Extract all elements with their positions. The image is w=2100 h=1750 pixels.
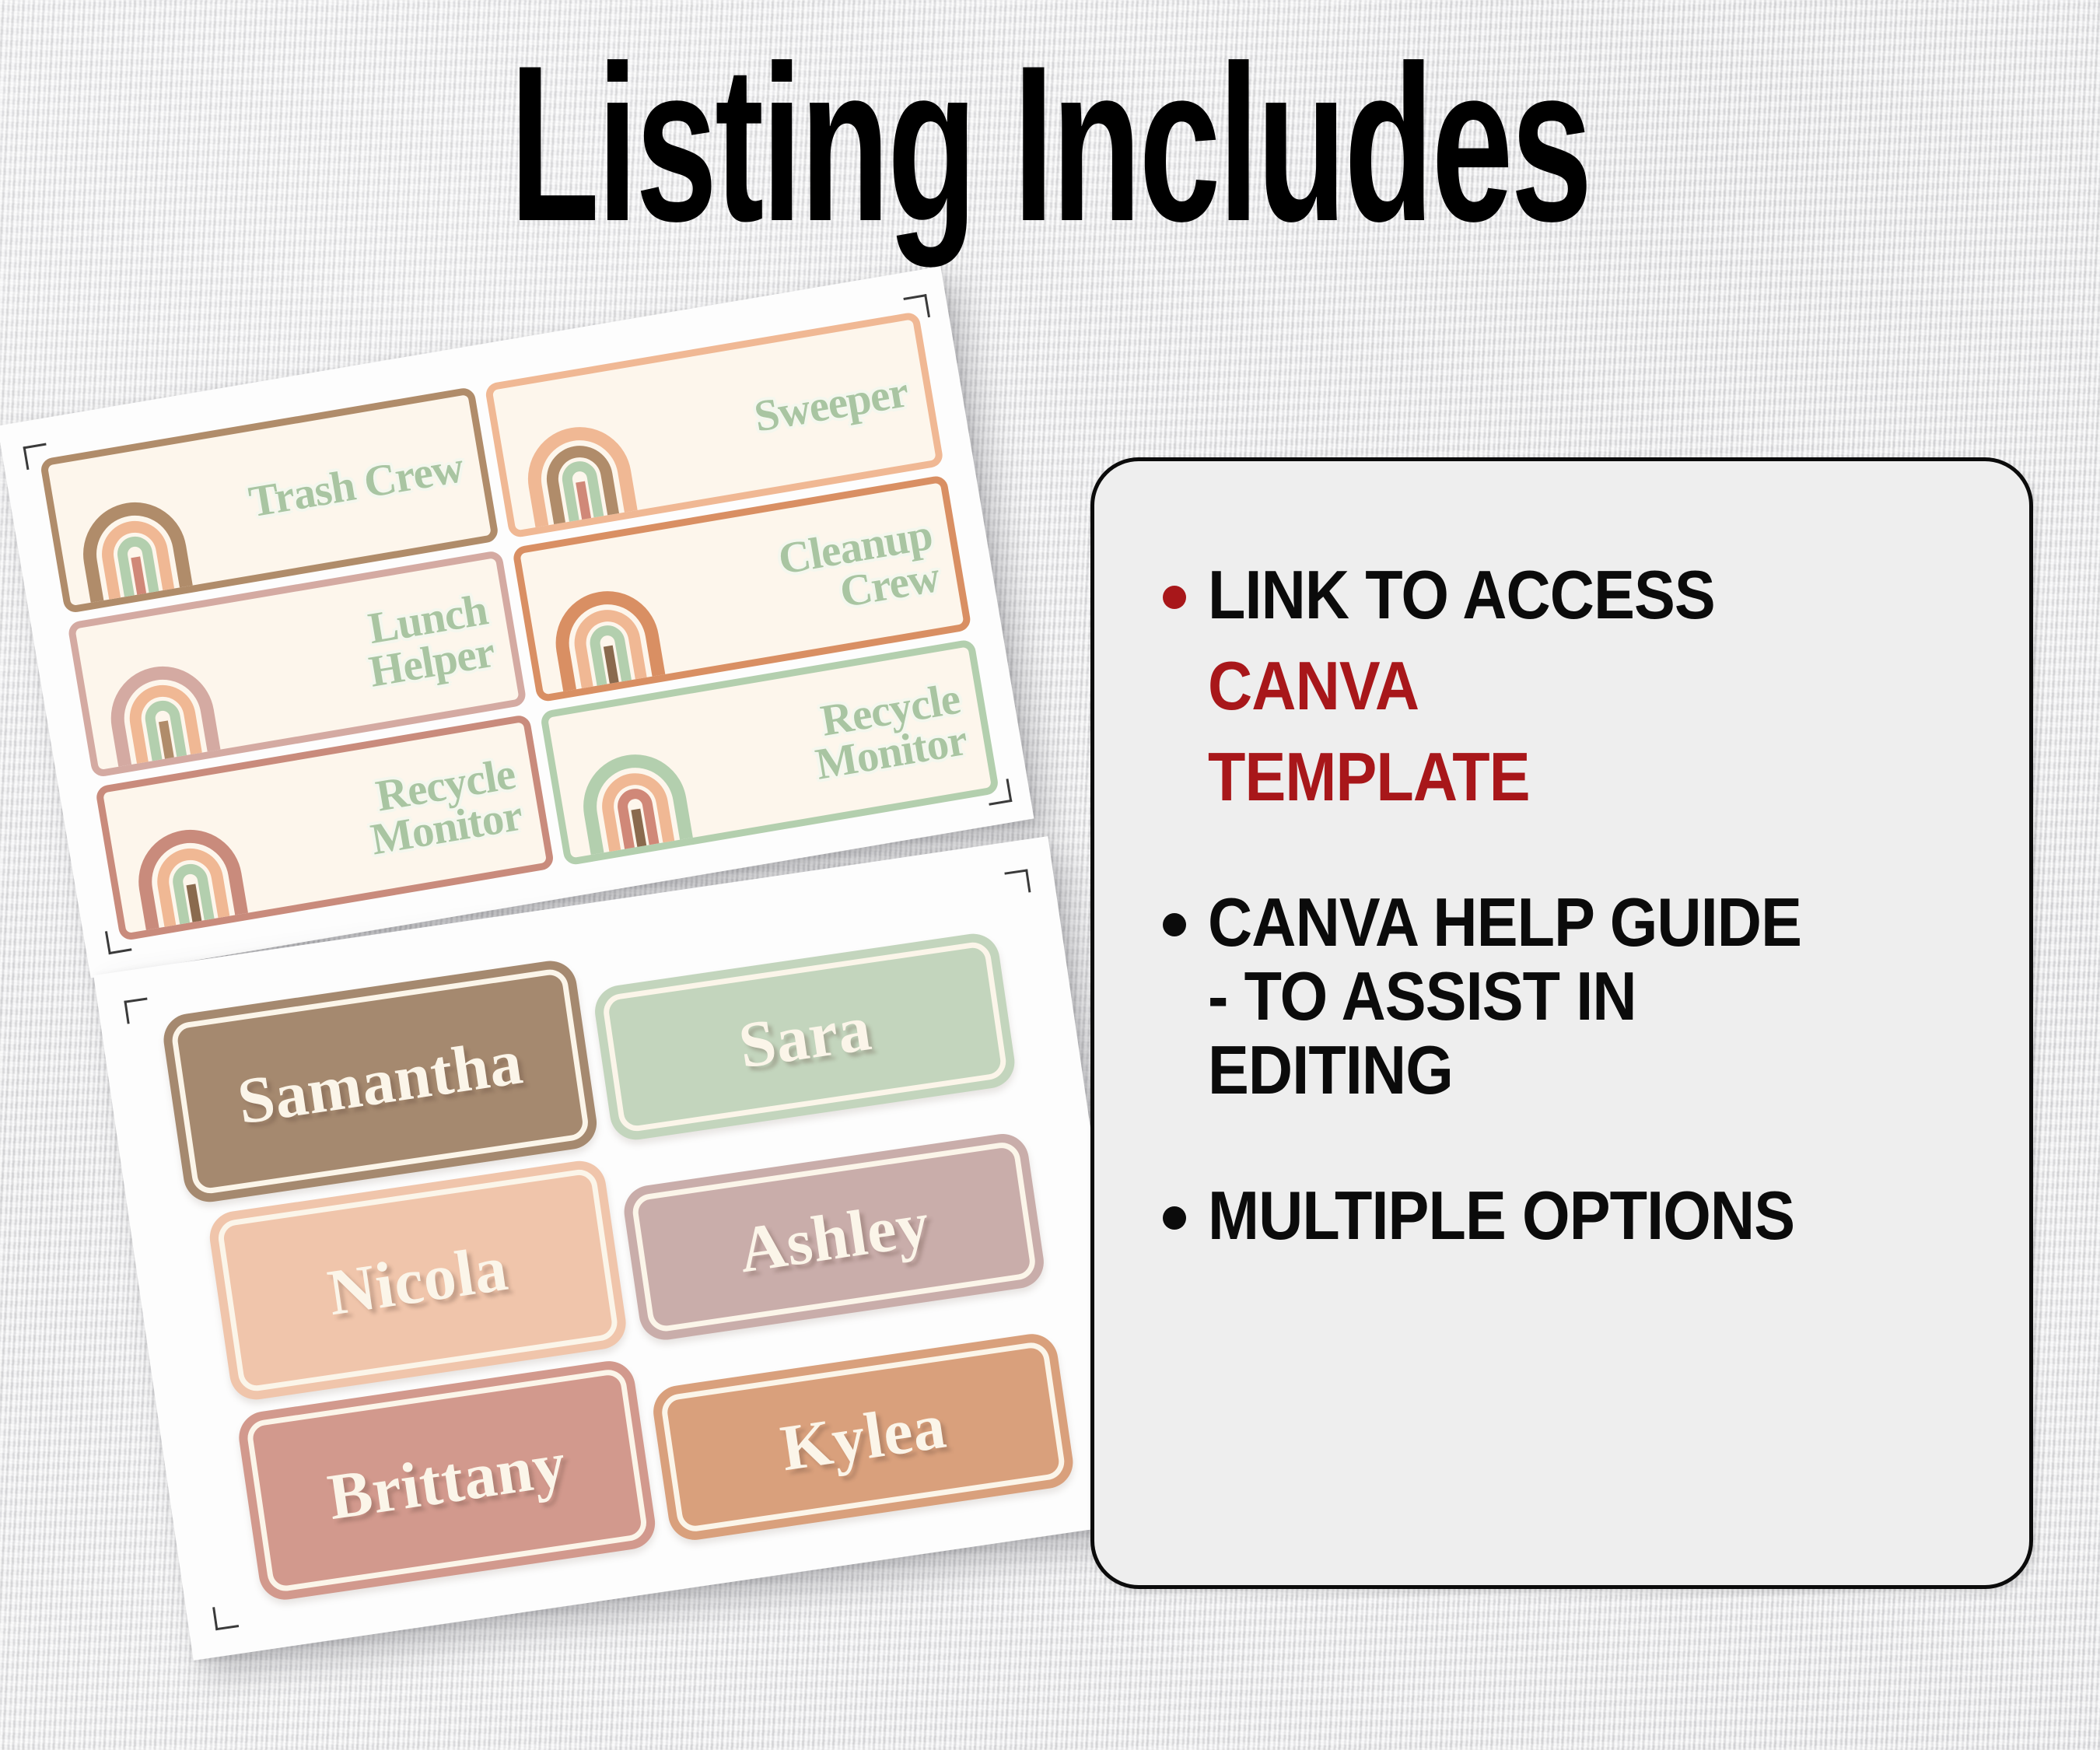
bullet-item: MULTIPLE OPTIONS [1163,1178,1979,1252]
chore-label-text: Recycle Monitor [264,753,525,878]
chore-label-text: Cleanup Crew [682,514,943,639]
rainbow-arch-icon [538,569,674,702]
bullet-item: CANVA HELP GUIDE - TO ASSIST IN EDITING [1163,885,1979,1107]
bullet-line: TEMPLATE [1208,740,1902,814]
crop-mark-icon [1004,869,1031,895]
listing-includes-panel: LINK TO ACCESS CANVA TEMPLATE CANVA HELP… [1090,457,2033,1589]
crop-mark-icon [124,998,150,1024]
bullet-dot-icon [1163,1206,1186,1230]
chore-label-text: Trash Crew [247,446,467,524]
name-tags-sheet: Samantha Sara Nicola Ashley Brittany Kyl… [93,836,1147,1661]
chore-label-text: Lunch Helper [237,590,498,715]
bullet-dot-icon [1163,586,1186,609]
chore-label-text: Sweeper [751,372,911,439]
chore-label-grid: Trash Crew Sweeper [40,311,1000,941]
name-tag[interactable]: Brittany [236,1358,659,1604]
bullet-line: CANVA HELP GUIDE [1208,885,1902,959]
rainbow-arch-icon [121,807,257,941]
bullet-dot-icon [1163,913,1186,936]
rainbow-arch-icon [566,732,702,866]
name-tag-text: Ashley [734,1186,934,1288]
poster-canvas: Listing Includes Trash Crew [0,0,2100,1750]
bullet-text-block: CANVA HELP GUIDE - TO ASSIST IN EDITING [1208,885,1979,1107]
rainbow-arch-icon [511,405,647,539]
name-tag[interactable]: Sara [592,930,1019,1143]
name-tag-text: Brittany [324,1426,571,1535]
bullet-item: LINK TO ACCESS CANVA TEMPLATE [1163,558,1979,814]
crop-mark-icon [212,1604,239,1630]
name-tag-text: Kylea [776,1388,950,1486]
name-tag-text: Nicola [323,1230,512,1330]
bullet-text-block: LINK TO ACCESS CANVA TEMPLATE [1208,558,1979,814]
rainbow-arch-icon [66,480,202,614]
bullet-line: - TO ASSIST IN [1208,959,1902,1033]
name-tag[interactable]: Kylea [650,1331,1077,1544]
name-tag-text: Samantha [233,1024,527,1139]
name-tag-text: Sara [734,990,876,1084]
bullet-line: EDITING [1208,1033,1902,1107]
bullet-line: LINK TO ACCESS [1208,558,1902,632]
name-tag-grid: Samantha Sara Nicola Ashley Brittany Kyl… [147,894,1098,1608]
bullet-line: MULTIPLE OPTIONS [1208,1178,1902,1252]
page-title: Listing Includes [273,31,1827,257]
name-tag[interactable]: Nicola [206,1157,629,1403]
bullet-line: CANVA [1208,649,1902,723]
bullet-text-block: MULTIPLE OPTIONS [1208,1178,1979,1252]
rainbow-arch-icon [93,644,229,778]
chore-label-text: Recycle Monitor [709,677,970,803]
name-tag[interactable]: Ashley [621,1130,1048,1343]
